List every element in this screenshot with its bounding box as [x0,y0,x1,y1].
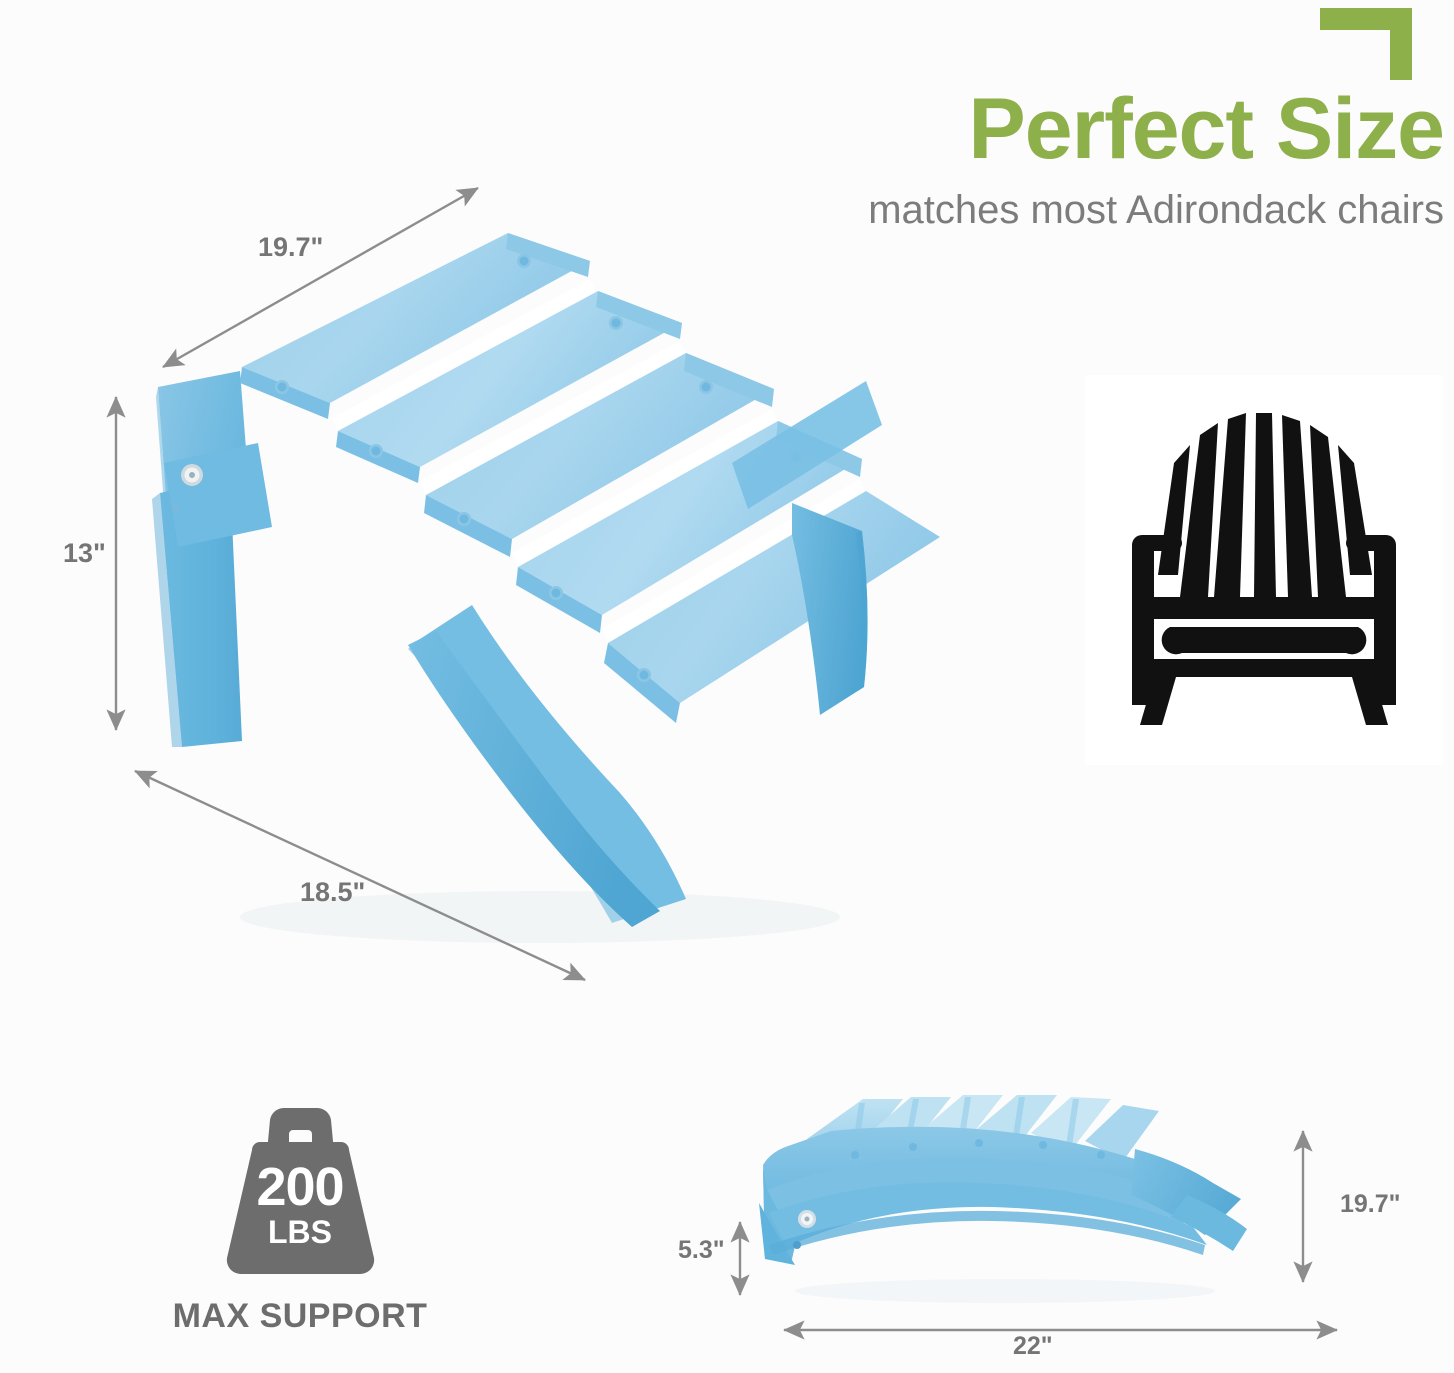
dimension-label-width-top: 19.7" [258,232,323,263]
weight-kettlebell-icon: 200 LBS [208,1108,393,1283]
adirondack-chair-silhouette-icon [1114,405,1414,735]
dimension-label-folded-width: 22" [1013,1332,1053,1361]
max-support-caption: MAX SUPPORT [150,1297,450,1336]
dimension-label-folded-depth: 19.7" [1340,1190,1401,1219]
dimension-label-folded-height: 5.3" [678,1236,725,1265]
infographic-page: Perfect Size matches most Adirondack cha… [0,0,1454,1373]
corner-bracket-icon [1320,8,1412,80]
weight-unit: LBS [208,1216,393,1248]
page-title: Perfect Size [684,86,1444,174]
dimension-label-height: 13" [63,538,106,569]
corner-bracket-vertical-bar [1390,8,1412,80]
folded-ottoman-illustration [735,1095,1265,1310]
dimension-label-depth: 18.5" [300,877,365,908]
max-support-badge: 200 LBS MAX SUPPORT [150,1108,450,1336]
weight-value: 200 [208,1160,393,1214]
adirondack-ottoman-illustration [120,175,940,965]
adirondack-chair-silhouette-panel [1085,375,1443,765]
